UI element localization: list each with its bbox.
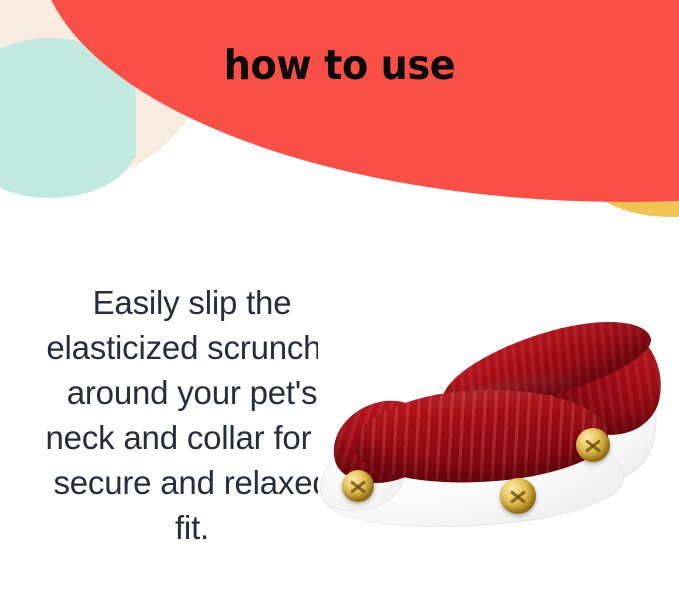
- product-image: [318, 320, 663, 535]
- jingle-bell-icon-right: [576, 428, 610, 462]
- product-image-stage: [318, 320, 663, 535]
- page-title: how to use: [24, 44, 655, 87]
- jingle-bell-icon-left: [342, 470, 374, 502]
- mint-circle-decoration: [0, 93, 136, 198]
- yellow-circle-decoration: [565, 74, 679, 217]
- red-ellipse-decoration: [38, 0, 679, 202]
- main-content: Easily slip the elasticized scrunchy aro…: [0, 225, 679, 589]
- header-banner: [0, 0, 679, 225]
- jingle-bell-icon-center: [500, 478, 536, 514]
- instruction-text: Easily slip the elasticized scrunchy aro…: [38, 280, 346, 550]
- cream-circle-decoration: [0, 0, 213, 183]
